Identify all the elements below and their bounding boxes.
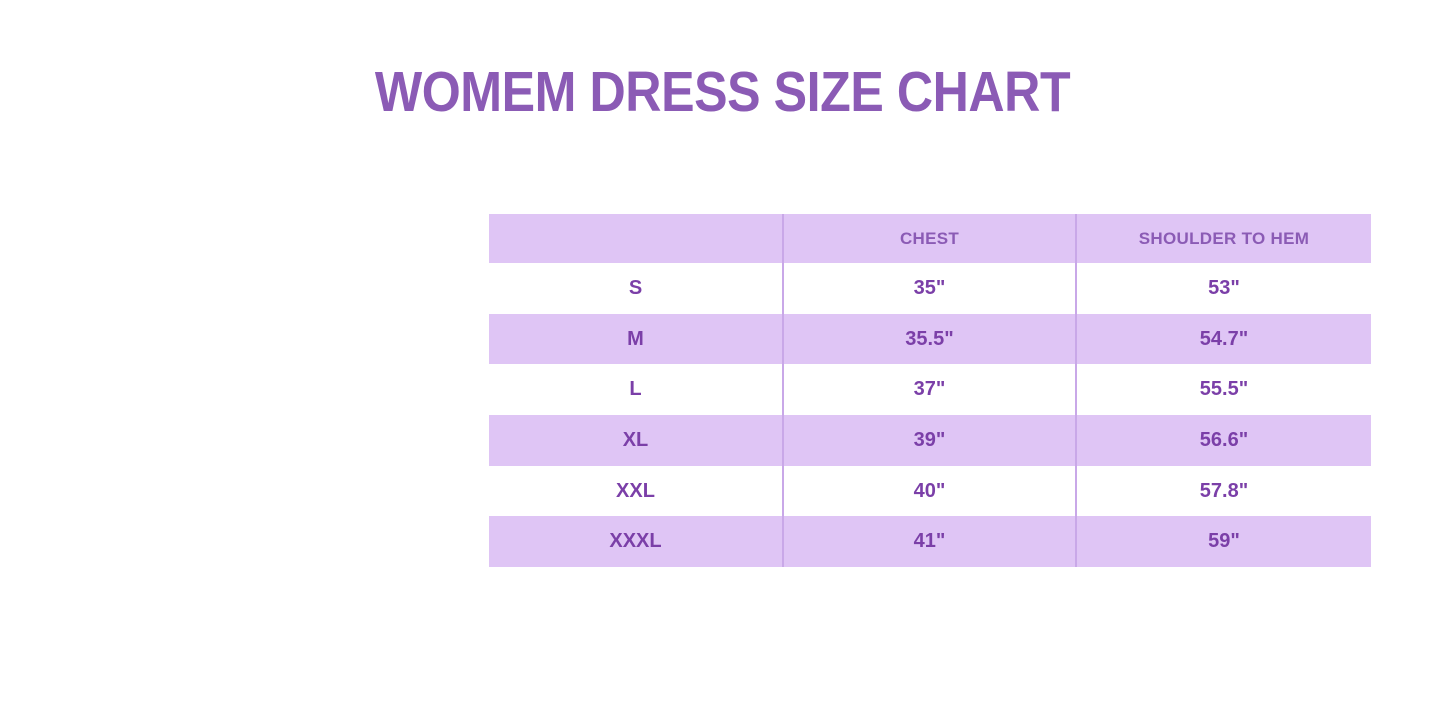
table-header: CHEST SHOULDER TO HEM (489, 214, 1371, 263)
cell-chest: 37" (783, 364, 1076, 415)
cell-size: XXXL (489, 516, 783, 567)
table-row: L 37" 55.5" (489, 364, 1371, 415)
column-header-chest: CHEST (783, 214, 1076, 263)
cell-shoulder-to-hem: 59" (1076, 516, 1371, 567)
cell-shoulder-to-hem: 57.8" (1076, 466, 1371, 517)
cell-chest: 35.5" (783, 314, 1076, 365)
table-row: M 35.5" 54.7" (489, 314, 1371, 365)
cell-size: L (489, 364, 783, 415)
table-row: XXXL 41" 59" (489, 516, 1371, 567)
cell-chest: 39" (783, 415, 1076, 466)
cell-shoulder-to-hem: 53" (1076, 263, 1371, 314)
cell-size: M (489, 314, 783, 365)
page-title: WOMEM DRESS SIZE CHART (87, 58, 1359, 126)
column-header-size (489, 214, 783, 263)
table-row: XL 39" 56.6" (489, 415, 1371, 466)
cell-chest: 40" (783, 466, 1076, 517)
cell-shoulder-to-hem: 54.7" (1076, 314, 1371, 365)
cell-shoulder-to-hem: 56.6" (1076, 415, 1371, 466)
size-chart-table: CHEST SHOULDER TO HEM S 35" 53" M 35.5" … (489, 214, 1371, 567)
table-row: S 35" 53" (489, 263, 1371, 314)
column-header-shoulder-to-hem: SHOULDER TO HEM (1076, 214, 1371, 263)
cell-size: XXL (489, 466, 783, 517)
cell-size: XL (489, 415, 783, 466)
table-row: XXL 40" 57.8" (489, 466, 1371, 517)
table-body: S 35" 53" M 35.5" 54.7" L 37" 55.5" XL 3… (489, 263, 1371, 567)
cell-chest: 41" (783, 516, 1076, 567)
size-chart-container: CHEST SHOULDER TO HEM S 35" 53" M 35.5" … (489, 214, 1371, 567)
cell-size: S (489, 263, 783, 314)
table-header-row: CHEST SHOULDER TO HEM (489, 214, 1371, 263)
cell-chest: 35" (783, 263, 1076, 314)
cell-shoulder-to-hem: 55.5" (1076, 364, 1371, 415)
